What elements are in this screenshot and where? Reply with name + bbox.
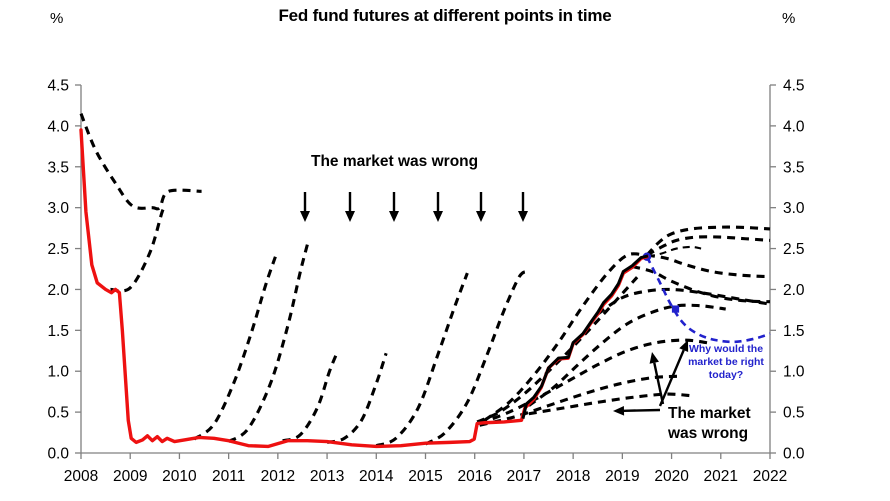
x-tick-label: 2011	[212, 468, 245, 485]
x-tick-label: 2022	[753, 468, 787, 485]
x-tick-label: 2014	[359, 468, 394, 485]
forecast-curve	[81, 114, 202, 209]
blue-mid-marker	[672, 305, 679, 312]
chart-plot: 0.00.51.01.52.02.53.03.54.04.5 0.00.51.0…	[0, 0, 890, 501]
chart-container: Fed fund futures at different points in …	[0, 0, 890, 501]
axes-group	[81, 85, 770, 453]
y-tick-label-left: 1.5	[47, 323, 69, 340]
y-tick-label-left: 4.0	[47, 118, 69, 135]
x-tick-label: 2017	[507, 468, 541, 485]
down-arrow-icon	[300, 192, 310, 222]
x-tick-label: 2010	[162, 468, 197, 485]
forecast-curve	[376, 273, 467, 446]
annotation-market-was-wrong-line1: The market	[668, 405, 751, 422]
y-tick-label-right: 1.0	[783, 364, 805, 381]
actual-rate-line	[81, 130, 647, 446]
y-tick-label-left: 0.5	[47, 405, 69, 422]
annotation-market-was-wrong-line2: was wrong	[667, 425, 748, 442]
x-tick-label: 2015	[408, 468, 442, 485]
annotation-why-right-line1: Why would the	[689, 343, 763, 355]
x-tick-label: 2021	[704, 468, 738, 485]
y-tick-label-left: 1.0	[47, 364, 69, 381]
y-tick-label-right: 0.5	[783, 405, 805, 422]
down-arrow-icon	[345, 192, 355, 222]
forecast-curve	[647, 227, 770, 255]
x-axis-ticks: 2008200920102011201220132014201520162017…	[64, 453, 787, 485]
down-arrow-icon	[433, 192, 443, 222]
x-tick-label: 2008	[64, 468, 98, 485]
y-tick-label-left: 4.5	[47, 78, 69, 95]
top-arrows-group	[300, 192, 528, 222]
y-tick-label-right: 2.0	[783, 282, 805, 299]
forecast-curve	[194, 257, 275, 439]
annotation-market-was-wrong-top: The market was wrong	[311, 153, 478, 170]
y-axis-right-ticks: 0.00.51.01.52.02.53.03.54.04.5	[770, 78, 805, 463]
forecast-curve	[647, 255, 770, 276]
pointer-arrow-icon	[613, 406, 660, 416]
down-arrow-icon	[518, 192, 528, 222]
forecast-curve	[648, 247, 701, 257]
x-tick-label: 2018	[556, 468, 590, 485]
annotation-why-right-line3: today?	[709, 369, 743, 381]
y-tick-label-left: 0.0	[47, 446, 69, 463]
forecast-curve	[523, 256, 648, 419]
x-tick-label: 2020	[654, 468, 689, 485]
y-tick-label-left: 2.0	[47, 282, 69, 299]
forecast-curve	[632, 267, 770, 302]
y-tick-label-right: 4.0	[783, 118, 805, 135]
y-tick-label-right: 3.5	[783, 159, 805, 176]
x-tick-label: 2016	[457, 468, 491, 485]
y-tick-label-left: 2.5	[47, 241, 69, 258]
y-tick-label-right: 3.0	[783, 200, 805, 217]
y-tick-label-left: 3.5	[47, 159, 69, 176]
annotation-why-right-line2: market be right	[688, 356, 764, 368]
x-tick-label: 2019	[605, 468, 639, 485]
forecast-curve	[111, 207, 166, 291]
y-tick-label-right: 0.0	[783, 446, 805, 463]
x-tick-label: 2009	[113, 468, 147, 485]
y-tick-label-right: 2.5	[783, 241, 805, 258]
y-tick-label-right: 1.5	[783, 323, 805, 340]
forecast-curve	[283, 351, 338, 441]
actual-rate-line-group	[81, 130, 648, 446]
y-tick-label-left: 3.0	[47, 200, 69, 217]
y-axis-left-ticks: 0.00.51.01.52.02.53.03.54.04.5	[47, 78, 81, 463]
y-tick-label-right: 4.5	[783, 78, 805, 95]
x-tick-label: 2013	[310, 468, 344, 485]
down-arrow-icon	[389, 192, 399, 222]
forecast-curve	[327, 353, 386, 442]
down-arrow-icon	[476, 192, 486, 222]
x-tick-label: 2012	[261, 468, 295, 485]
